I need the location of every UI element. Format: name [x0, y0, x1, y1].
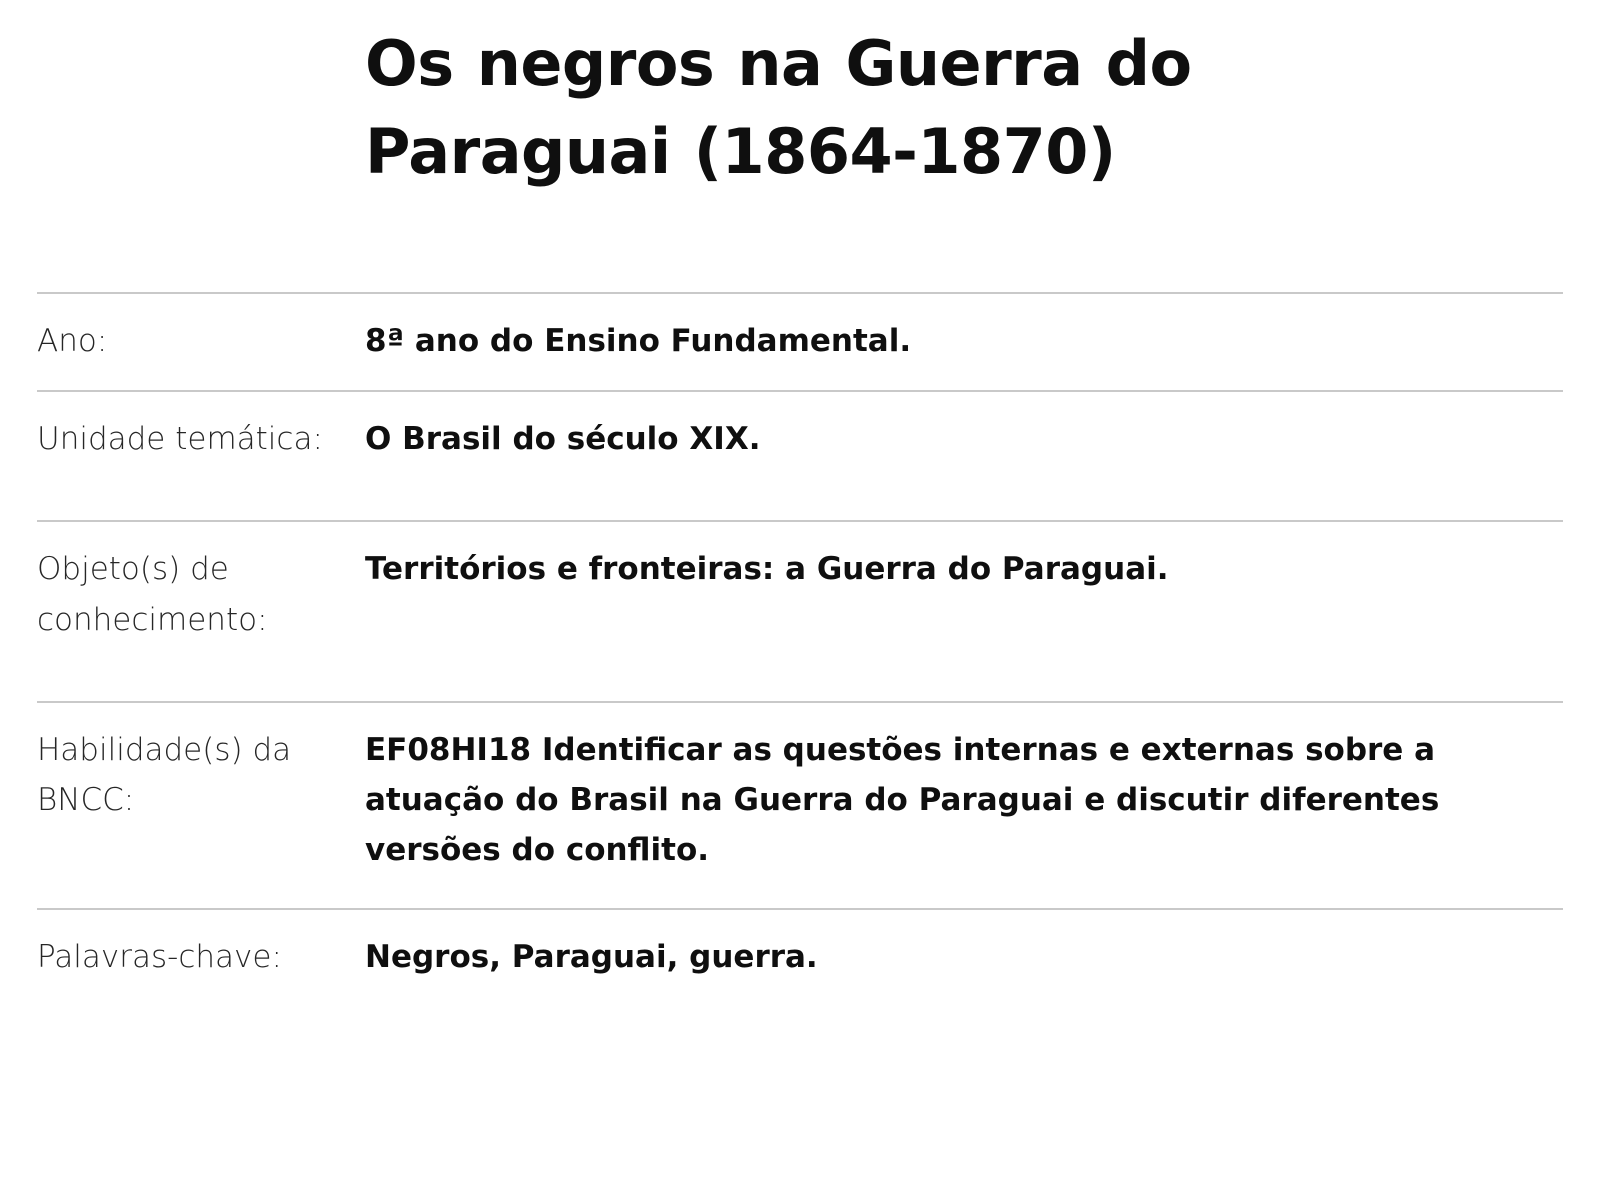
table-row-unidade-tematica: Unidade temática: O Brasil do século XIX…: [37, 391, 1563, 521]
row-label-cell-habilidades-bncc: Habilidade(s) da BNCC:: [37, 702, 365, 909]
row-label-objetos-de-conhecimento: Objeto(s) de conhecimento:: [37, 544, 365, 644]
document-page: Os negros na Guerra do Paraguai (1864-18…: [0, 0, 1600, 1200]
row-value-unidade-tematica: O Brasil do século XIX.: [365, 414, 1563, 464]
row-label-habilidades-bncc: Habilidade(s) da BNCC:: [37, 725, 365, 825]
table-row-objetos-de-conhecimento: Objeto(s) de conhecimento: Territórios e…: [37, 521, 1563, 701]
row-label-ano: Ano:: [37, 316, 365, 366]
row-value-palavras-chave: Negros, Paraguai, guerra.: [365, 932, 1563, 982]
row-value-cell-habilidades-bncc: EF08HI18 Identificar as questões interna…: [365, 702, 1563, 909]
row-value-cell-palavras-chave: Negros, Paraguai, guerra.: [365, 909, 1563, 1012]
row-value-cell-unidade-tematica: O Brasil do século XIX.: [365, 391, 1563, 521]
row-value-cell-objetos-de-conhecimento: Territórios e fronteiras: a Guerra do Pa…: [365, 521, 1563, 701]
row-label-cell-objetos-de-conhecimento: Objeto(s) de conhecimento:: [37, 521, 365, 701]
title-block: Os negros na Guerra do Paraguai (1864-18…: [365, 20, 1365, 196]
lesson-metadata-table: Ano: 8ª ano do Ensino Fundamental. Unida…: [37, 292, 1563, 1012]
row-label-cell-unidade-tematica: Unidade temática:: [37, 391, 365, 521]
row-value-habilidades-bncc: EF08HI18 Identificar as questões interna…: [365, 725, 1563, 876]
row-label-cell-palavras-chave: Palavras-chave:: [37, 909, 365, 1012]
row-value-objetos-de-conhecimento: Territórios e fronteiras: a Guerra do Pa…: [365, 544, 1563, 594]
table-row-habilidades-bncc: Habilidade(s) da BNCC: EF08HI18 Identifi…: [37, 702, 1563, 909]
page-title: Os negros na Guerra do Paraguai (1864-18…: [365, 20, 1365, 196]
table-row-palavras-chave: Palavras-chave: Negros, Paraguai, guerra…: [37, 909, 1563, 1012]
row-label-unidade-tematica: Unidade temática:: [37, 414, 365, 464]
row-label-palavras-chave: Palavras-chave:: [37, 932, 365, 982]
row-label-cell-ano: Ano:: [37, 293, 365, 391]
row-value-cell-ano: 8ª ano do Ensino Fundamental.: [365, 293, 1563, 391]
table-row-ano: Ano: 8ª ano do Ensino Fundamental.: [37, 293, 1563, 391]
row-value-ano: 8ª ano do Ensino Fundamental.: [365, 316, 1563, 366]
